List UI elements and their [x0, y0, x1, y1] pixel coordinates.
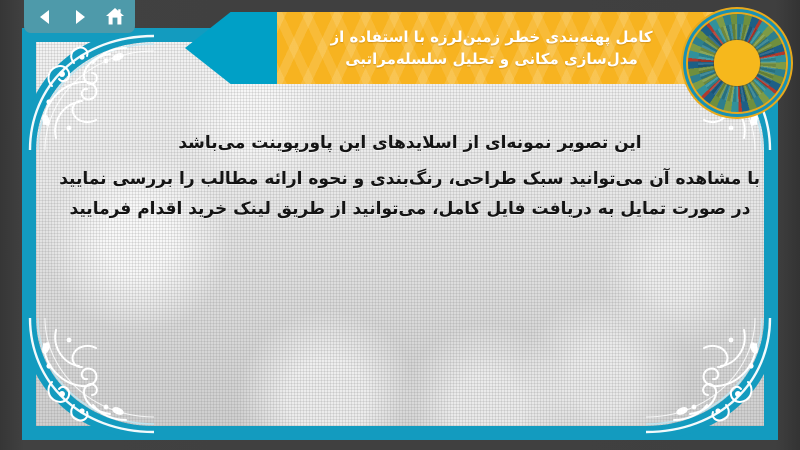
home-icon: [105, 7, 125, 26]
slide-title-banner: کامل پهنه‌بندی خطر زمین‌لرزه با استفاده …: [185, 12, 730, 84]
body-line-1: این تصویر نمونه‌ای از اسلایدهای این پاور…: [60, 130, 760, 158]
slide-viewer: کامل پهنه‌بندی خطر زمین‌لرزه با استفاده …: [0, 0, 800, 450]
slide-title-line-2: مدل‌سازی مکانی و تحلیل سلسله‌مراتبی: [345, 48, 638, 71]
slide-title: کامل پهنه‌بندی خطر زمین‌لرزه با استفاده …: [277, 12, 730, 84]
slide-title-line-1: کامل پهنه‌بندی خطر زمین‌لرزه با استفاده …: [330, 26, 652, 49]
slide-navigation-bar: [24, 0, 135, 33]
triangle-left-icon: [36, 8, 54, 26]
forward-button[interactable]: [69, 6, 91, 28]
persian-medallion-icon: [688, 14, 786, 112]
arabesque-corner-icon: [646, 318, 778, 440]
body-line-3: در صورت تمایل به دریافت فایل کامل، می‌تو…: [60, 196, 760, 224]
body-line-2: با مشاهده آن می‌توانید سبک طراحی، رنگ‌بن…: [60, 166, 760, 194]
title-banner-background: کامل پهنه‌بندی خطر زمین‌لرزه با استفاده …: [277, 12, 730, 84]
slide-body: این تصویر نمونه‌ای از اسلایدهای این پاور…: [60, 130, 760, 224]
arabesque-corner-icon: [22, 318, 154, 440]
triangle-right-icon: [71, 8, 89, 26]
back-button[interactable]: [34, 6, 56, 28]
home-button[interactable]: [104, 6, 126, 28]
